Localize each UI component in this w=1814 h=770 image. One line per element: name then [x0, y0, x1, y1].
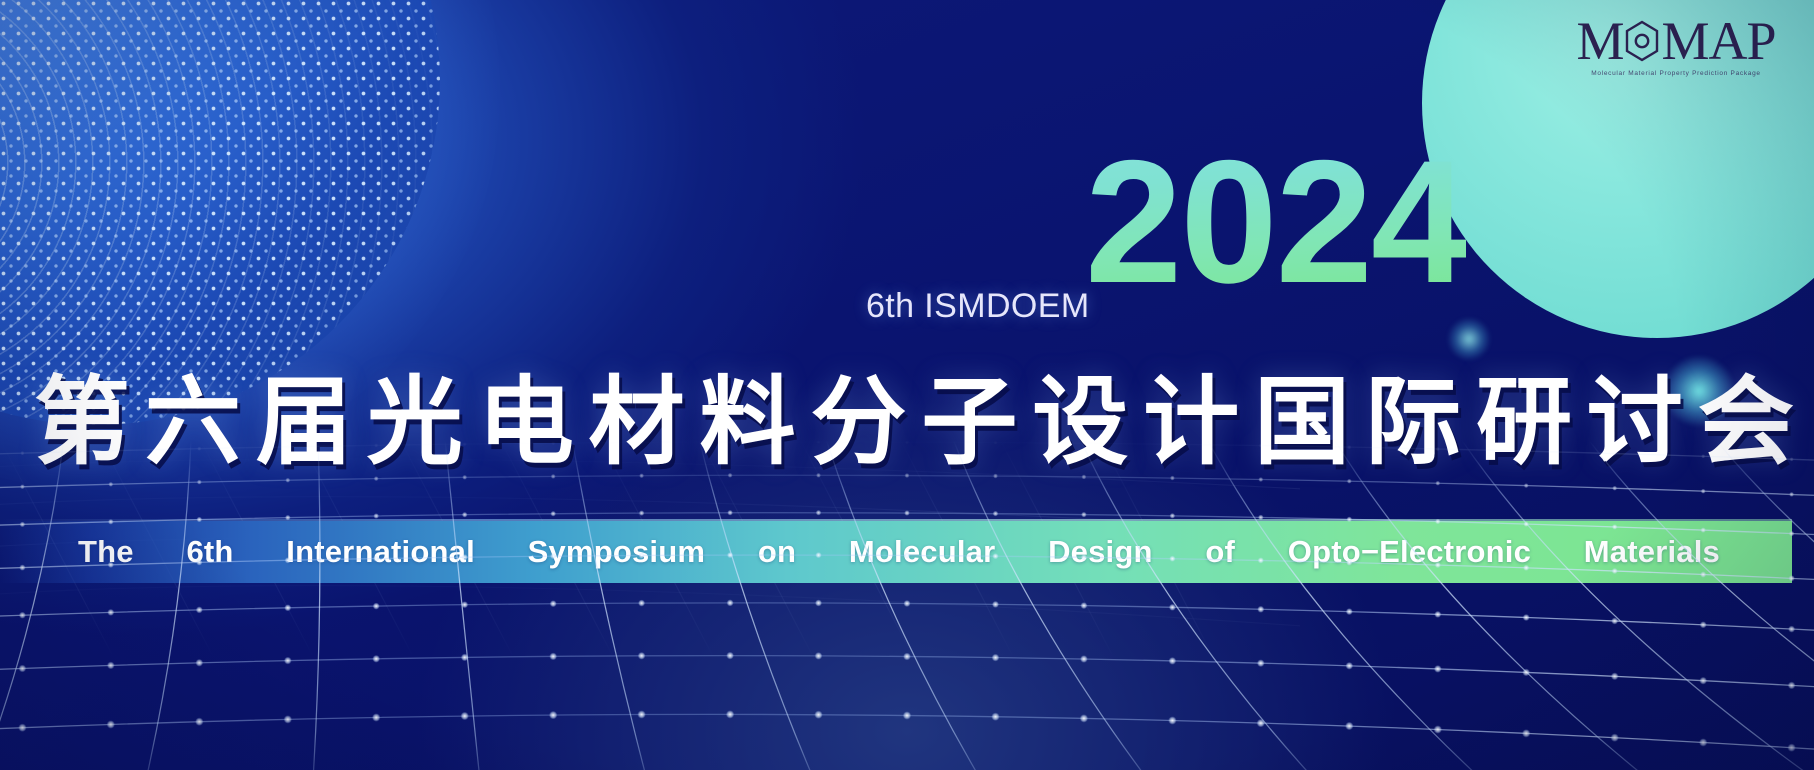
mesh-node [284, 604, 291, 611]
mesh-node [993, 440, 997, 444]
mesh-node [1788, 575, 1794, 581]
mesh-node [285, 515, 291, 521]
mesh-node [549, 653, 557, 661]
mesh-node [20, 484, 25, 489]
mesh-node [1612, 568, 1618, 574]
mesh-node [1081, 554, 1087, 560]
mesh-node [20, 522, 26, 528]
mesh-node [1788, 682, 1796, 690]
mesh-node [1259, 443, 1263, 447]
mesh-node [816, 510, 822, 516]
mesh-node [816, 440, 820, 444]
mesh-node [991, 713, 999, 721]
mesh-node [814, 711, 822, 719]
mesh-node [639, 473, 644, 478]
mesh-node [372, 713, 380, 721]
year-heading: 2024 [1085, 135, 1466, 310]
mesh-node [19, 665, 27, 673]
mesh-node [286, 445, 290, 449]
mesh-node [1258, 515, 1264, 521]
mesh-node [374, 443, 378, 447]
mesh-node [285, 557, 291, 563]
mesh-node [197, 447, 201, 451]
mesh-node [638, 600, 645, 607]
mesh-node [1258, 557, 1264, 563]
mesh-node [550, 553, 556, 559]
conference-banner: M MAP Molecular Material Property Predic… [0, 0, 1814, 770]
mesh-node [19, 612, 26, 619]
mesh-node [1436, 447, 1440, 451]
mesh-node [1170, 476, 1175, 481]
mesh-node [108, 562, 114, 568]
mesh-node [20, 451, 24, 455]
mesh-node [1434, 665, 1442, 673]
mesh-node [904, 600, 911, 607]
mesh-node [1347, 479, 1352, 484]
mesh-node [1346, 608, 1353, 615]
mesh-node [107, 720, 115, 728]
mesh-node [107, 662, 115, 670]
mesh-node [1701, 454, 1705, 458]
mesh-node [1790, 457, 1794, 461]
momap-letter-m: M [1576, 14, 1623, 68]
mesh-node [1169, 604, 1176, 611]
mesh-node [1700, 527, 1706, 533]
mesh-node [638, 552, 644, 558]
mesh-node [903, 711, 911, 719]
mesh-node [903, 653, 911, 661]
mesh-node [726, 652, 734, 660]
mesh-node [1699, 738, 1707, 746]
mesh-node [992, 654, 1000, 662]
mesh-node [196, 559, 202, 565]
momap-wordmark: M MAP [1560, 14, 1792, 68]
mesh-node [1435, 519, 1441, 525]
mesh-node [461, 654, 469, 662]
edition-label: 6th ISMDOEM [866, 287, 1090, 326]
mesh-node [815, 552, 821, 558]
mesh-node [905, 440, 909, 444]
mesh-node [108, 482, 113, 487]
mesh-node [108, 519, 114, 525]
mesh-node [461, 712, 469, 720]
mesh-node [1523, 614, 1530, 621]
mesh-node [372, 655, 380, 663]
mesh-node [550, 511, 556, 517]
mesh-node [550, 600, 557, 607]
mesh-node [1789, 531, 1795, 537]
mesh-node [107, 609, 114, 616]
mesh-node [551, 474, 556, 479]
cyan-glow-accent-secondary [1448, 318, 1490, 360]
mesh-node [373, 555, 379, 561]
mesh-node [1788, 626, 1795, 633]
mesh-node [284, 657, 292, 665]
mesh-node [549, 711, 557, 719]
mesh-node [992, 553, 998, 559]
mesh-node [373, 603, 380, 610]
mesh-node [374, 476, 379, 481]
mesh-node [1080, 602, 1087, 609]
mesh-node [1168, 716, 1176, 724]
mesh-node [726, 710, 734, 718]
mesh-node [285, 478, 290, 483]
mesh-node [1169, 556, 1175, 562]
mesh-node [727, 552, 733, 558]
mesh-node [638, 652, 646, 660]
mesh-node [728, 473, 733, 478]
mesh-node [1522, 669, 1530, 677]
mesh-node [727, 599, 734, 606]
mesh-node [1787, 744, 1795, 752]
mesh-node [373, 513, 379, 519]
momap-tagline: Molecular Material Property Prediction P… [1560, 70, 1792, 77]
mesh-node [18, 724, 26, 732]
mesh-node [1345, 662, 1353, 670]
mesh-node [1257, 659, 1265, 667]
mesh-node [463, 442, 467, 446]
mesh-node [1611, 734, 1619, 742]
mesh-node [1170, 513, 1176, 519]
mesh-node [1701, 489, 1706, 494]
mesh-node [1081, 512, 1087, 518]
mesh-node [1612, 486, 1617, 491]
globe-rings [0, 0, 440, 425]
mesh-node [1524, 449, 1528, 453]
mesh-node [195, 718, 203, 726]
mesh-node [637, 710, 645, 718]
mesh-node [1435, 481, 1440, 486]
mesh-node [1700, 571, 1706, 577]
halftone-globe-icon [0, 0, 440, 425]
mesh-node [1347, 517, 1353, 523]
mesh-node [640, 440, 644, 444]
mesh-node [993, 474, 998, 479]
mesh-node [196, 606, 203, 613]
hexagon-ring-icon [1622, 19, 1662, 63]
mesh-node [462, 475, 467, 480]
mesh-node [904, 552, 910, 558]
mesh-node [1524, 483, 1529, 488]
mesh-node [284, 715, 292, 723]
mesh-node [1699, 677, 1707, 685]
mesh-node [1170, 442, 1174, 446]
mesh-node [1347, 445, 1351, 449]
mesh-node [728, 440, 732, 444]
mesh-node [1611, 672, 1619, 680]
mesh-node [462, 554, 468, 560]
mesh-node [1257, 719, 1265, 727]
mesh-node [904, 510, 910, 516]
mesh-node [1613, 452, 1617, 456]
mesh-node [1700, 621, 1707, 628]
mesh-node [19, 564, 25, 570]
mesh-node [1434, 611, 1441, 618]
mesh-node [815, 600, 822, 607]
mesh-node [1257, 606, 1264, 613]
mesh-node [905, 473, 910, 478]
momap-logo: M MAP Molecular Material Property Predic… [1560, 14, 1792, 77]
momap-letters-map: MAP [1661, 14, 1775, 68]
mesh-node [1169, 657, 1177, 665]
mesh-node [815, 652, 823, 660]
mesh-node [816, 473, 821, 478]
mesh-node [1081, 474, 1086, 479]
mesh-node [1435, 562, 1441, 568]
mesh-node [1080, 714, 1088, 722]
mesh-node [1789, 492, 1794, 497]
mesh-node [1523, 565, 1529, 571]
mesh-node [462, 512, 468, 518]
mesh-node [195, 659, 203, 667]
mesh-node [1434, 725, 1442, 733]
mesh-node [1523, 521, 1529, 527]
mesh-node [992, 601, 999, 608]
mesh-node [197, 517, 203, 523]
mesh-node [1522, 729, 1530, 737]
mesh-node [993, 511, 999, 517]
mesh-node [1080, 655, 1088, 663]
mesh-node [1258, 477, 1263, 482]
mesh-node [1611, 618, 1618, 625]
mesh-node [461, 601, 468, 608]
mesh-node [551, 441, 555, 445]
mesh-node [109, 449, 113, 453]
mesh-node [727, 510, 733, 516]
mesh-node [639, 510, 645, 516]
wireframe-mesh [0, 440, 1814, 770]
mesh-node [1346, 559, 1352, 565]
mesh-node [197, 480, 202, 485]
mesh-node [1082, 441, 1086, 445]
mesh-node [1345, 722, 1353, 730]
mesh-node [1612, 524, 1618, 530]
